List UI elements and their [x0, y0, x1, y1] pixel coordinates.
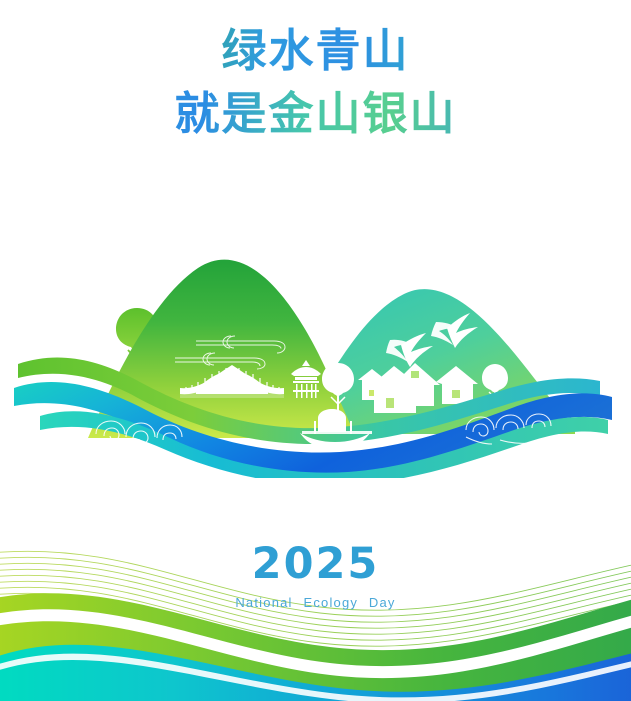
title-line-2: 就是金山银山	[0, 87, 631, 140]
eco-poster: 绿水青山 就是金山银山	[0, 0, 631, 701]
event-subtitle: National Ecology Day	[0, 595, 631, 610]
year-label: 2025	[0, 543, 631, 586]
title-line-1: 绿水青山	[0, 24, 631, 77]
illustration-scene	[0, 238, 631, 478]
poster-title: 绿水青山 就是金山银山	[0, 24, 631, 140]
year-block: 2025 National Ecology Day	[0, 543, 631, 610]
